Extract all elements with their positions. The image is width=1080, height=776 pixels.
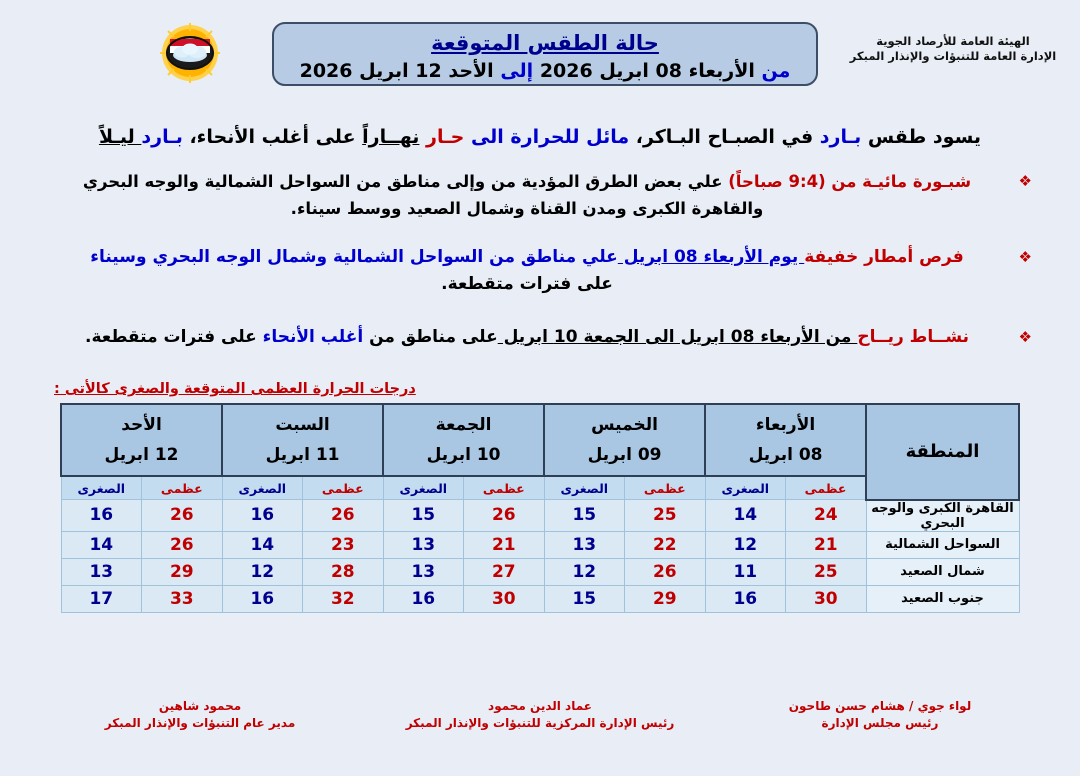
organization-name: الهيئة العامة للأرصاد الجوية الإدارة الع…	[838, 34, 1068, 64]
period-end-date: الأحد 12 ابريل 2026	[300, 60, 494, 82]
lead-seg-1: يسود طقس	[861, 126, 981, 148]
row-0-region: القاهرة الكبرى والوجه البحري	[866, 500, 1019, 532]
subheader-min-2: الصغرى	[383, 476, 464, 500]
row-0-min-1: 15	[544, 500, 625, 532]
signature-2: لواء جوي / هشام حسن طاحون رئيس مجلس الإد…	[720, 698, 1040, 732]
forecast-period: من الأربعاء 08 ابريل 2026 إلى الأحد 12 ا…	[274, 58, 816, 84]
lead-paragraph: يسود طقس بـارد في الصبـاح البـاكر، مائل …	[58, 122, 1022, 152]
row-0-min-2: 15	[383, 500, 464, 532]
row-0-min-0: 14	[705, 500, 786, 532]
row-0-max-4: 26	[142, 500, 223, 532]
lead-seg-8: بـارد	[141, 126, 182, 148]
row-1-min-0: 12	[705, 531, 786, 558]
table-body: القاهرة الكبرى والوجه البحري 24 14 25 15…	[61, 500, 1019, 613]
egyptian-meteorological-authority-logo	[155, 22, 225, 84]
header-day-2-date: 10 ابريل	[384, 440, 543, 470]
header-day-1: الخميس 09 ابريل	[544, 404, 705, 476]
bullet-fog: ❖ شبـورة مائيـة من (9:4 صباحاً) علي بعض …	[46, 168, 1034, 222]
row-0-max-0: 24	[786, 500, 867, 532]
signature-1-name: عماد الدين محمود	[380, 698, 700, 715]
row-2-region: شمال الصعيد	[866, 558, 1019, 585]
subheader-min-4: الصغرى	[61, 476, 142, 500]
subheader-max-1: عظمى	[625, 476, 706, 500]
page-title: حالة الطقس المتوقعة	[274, 29, 816, 58]
header-day-3: السبت 11 ابريل	[222, 404, 383, 476]
page-header: حالة الطقس المتوقعة من الأربعاء 08 ابريل…	[0, 0, 1080, 104]
table-row: السواحل الشمالية 21 12 22 13 21 13 23 14…	[61, 531, 1019, 558]
period-start-date: الأربعاء 08 ابريل 2026	[540, 60, 755, 82]
header-day-2: الجمعة 10 ابريل	[383, 404, 544, 476]
row-3-max-2: 30	[464, 585, 545, 612]
lead-seg-9: ليـلاً	[99, 126, 141, 148]
row-1-max-4: 26	[142, 531, 223, 558]
diamond-bullet-icon: ❖	[1019, 326, 1032, 348]
wind-area: أغلب الأنحاء	[263, 327, 364, 347]
lead-seg-6: نهــاراً	[362, 126, 419, 148]
table-row: جنوب الصعيد 30 16 29 15 30 16 32 16 33 1…	[61, 585, 1019, 612]
signature-2-name: لواء جوي / هشام حسن طاحون	[720, 698, 1040, 715]
row-1-min-3: 14	[222, 531, 303, 558]
header-day-0-date: 08 ابريل	[706, 440, 865, 470]
header-region: المنطقة	[866, 404, 1019, 500]
subheader-max-3: عظمى	[303, 476, 384, 500]
row-2-max-1: 26	[625, 558, 706, 585]
period-to-word: إلى	[500, 60, 533, 82]
row-1-max-3: 23	[303, 531, 384, 558]
signature-1-title: رئيس الإدارة المركزية للتنبؤات والإنذار …	[380, 715, 700, 732]
row-1-min-1: 13	[544, 531, 625, 558]
subheader-min-3: الصغرى	[222, 476, 303, 500]
title-box: حالة الطقس المتوقعة من الأربعاء 08 ابريل…	[272, 22, 818, 86]
header-day-4-date: 12 ابريل	[62, 440, 221, 470]
row-1-max-0: 21	[786, 531, 867, 558]
signature-2-title: رئيس مجلس الإدارة	[720, 715, 1040, 732]
subheader-min-0: الصغرى	[705, 476, 786, 500]
temperature-table-caption: درجات الحرارة العظمى المتوقعة والصغرى كا…	[54, 381, 1026, 397]
lead-seg-7: على أغلب الأنحاء،	[183, 126, 362, 148]
rain-date: يوم الأربعاء 08 ابريل	[618, 247, 804, 267]
row-2-min-4: 13	[61, 558, 142, 585]
row-2-min-1: 12	[544, 558, 625, 585]
header-day-1-name: الخميس	[545, 410, 704, 440]
header-day-1-date: 09 ابريل	[545, 440, 704, 470]
header-day-4: الأحد 12 ابريل	[61, 404, 222, 476]
row-1-region: السواحل الشمالية	[866, 531, 1019, 558]
signature-0-title: مدير عام التنبؤات والإنذار المبكر	[40, 715, 360, 732]
row-3-max-3: 32	[303, 585, 384, 612]
row-2-min-0: 11	[705, 558, 786, 585]
header-day-4-name: الأحد	[62, 410, 221, 440]
signature-1: عماد الدين محمود رئيس الإدارة المركزية ل…	[380, 698, 700, 732]
lead-seg-3: في الصبـاح البـاكر،	[629, 126, 820, 148]
row-3-min-4: 17	[61, 585, 142, 612]
row-0-max-3: 26	[303, 500, 384, 532]
rain-highlight: فرص أمطار خفيفة	[804, 247, 963, 267]
row-2-min-2: 13	[383, 558, 464, 585]
row-1-min-4: 14	[61, 531, 142, 558]
diamond-bullet-icon: ❖	[1019, 170, 1032, 192]
row-0-max-1: 25	[625, 500, 706, 532]
lead-seg-4: مائل للحرارة الى	[471, 126, 629, 148]
row-0-max-2: 26	[464, 500, 545, 532]
row-2-max-3: 28	[303, 558, 384, 585]
row-3-min-3: 16	[222, 585, 303, 612]
row-1-min-2: 13	[383, 531, 464, 558]
rain-text-line2: على فترات متقطعة.	[46, 271, 1008, 298]
subheader-max-2: عظمى	[464, 476, 545, 500]
row-3-min-1: 15	[544, 585, 625, 612]
row-0-min-4: 16	[61, 500, 142, 532]
row-3-region: جنوب الصعيد	[866, 585, 1019, 612]
bullet-list: ❖ شبـورة مائيـة من (9:4 صباحاً) علي بعض …	[46, 168, 1034, 351]
subheader-max-0: عظمى	[786, 476, 867, 500]
row-0-min-3: 16	[222, 500, 303, 532]
signature-0-name: محمود شاهين	[40, 698, 360, 715]
header-day-0-name: الأربعاء	[706, 410, 865, 440]
temperature-table: المنطقة الأربعاء 08 ابريل الخميس 09 ابري…	[60, 403, 1020, 613]
subheader-min-1: الصغرى	[544, 476, 625, 500]
row-2-min-3: 12	[222, 558, 303, 585]
header-day-2-name: الجمعة	[384, 410, 543, 440]
row-3-max-1: 29	[625, 585, 706, 612]
wind-mid-text: على مناطق من	[363, 327, 498, 347]
fog-highlight: شبـورة مائيـة من (9:4 صباحاً)	[728, 172, 971, 191]
bullet-rain: ❖ فرص أمطار خفيفة يوم الأربعاء 08 ابريل …	[46, 244, 1034, 298]
period-from-word: من	[762, 60, 791, 82]
rain-text: علي مناطق من السواحل الشمالية وشمال الوج…	[90, 247, 618, 267]
fog-text-line2: والقاهرة الكبرى ومدن القناة وشمال الصعيد…	[46, 195, 1008, 222]
wind-date-range: من الأربعاء 08 ابريل الى الجمعة 10 ابريل	[498, 327, 858, 347]
row-2-max-4: 29	[142, 558, 223, 585]
page-footer: محمود شاهين مدير عام التنبؤات والإنذار ا…	[0, 698, 1080, 732]
row-3-max-0: 30	[786, 585, 867, 612]
table-row: شمال الصعيد 25 11 26 12 27 13 28 12 29 1…	[61, 558, 1019, 585]
row-1-max-2: 21	[464, 531, 545, 558]
row-3-min-0: 16	[705, 585, 786, 612]
org-line-2: الإدارة العامة للتنبؤات والإنذار المبكر	[838, 49, 1068, 64]
table-row: القاهرة الكبرى والوجه البحري 24 14 25 15…	[61, 500, 1019, 532]
lead-seg-5: حـار	[419, 126, 471, 148]
lead-seg-2: بـارد	[820, 126, 861, 148]
org-line-1: الهيئة العامة للأرصاد الجوية	[838, 34, 1068, 49]
row-3-min-2: 16	[383, 585, 464, 612]
wind-highlight: نشــاط ريــاح	[857, 327, 969, 347]
header-day-3-name: السبت	[223, 410, 382, 440]
row-2-max-2: 27	[464, 558, 545, 585]
row-1-max-1: 22	[625, 531, 706, 558]
row-2-max-0: 25	[786, 558, 867, 585]
bullet-wind: ❖ نشــاط ريــاح من الأربعاء 08 ابريل الى…	[46, 324, 1034, 351]
diamond-bullet-icon: ❖	[1019, 246, 1032, 268]
signature-0: محمود شاهين مدير عام التنبؤات والإنذار ا…	[40, 698, 360, 732]
temperature-table-wrapper: المنطقة الأربعاء 08 ابريل الخميس 09 ابري…	[60, 403, 1020, 613]
wind-end-text: على فترات متقطعة.	[85, 327, 263, 347]
fog-text: علي بعض الطرق المؤدية من وإلى مناطق من ا…	[83, 172, 728, 191]
subheader-max-4: عظمى	[142, 476, 223, 500]
header-day-0: الأربعاء 08 ابريل	[705, 404, 866, 476]
header-day-3-date: 11 ابريل	[223, 440, 382, 470]
row-3-max-4: 33	[142, 585, 223, 612]
weather-forecast-page: حالة الطقس المتوقعة من الأربعاء 08 ابريل…	[0, 0, 1080, 776]
table-header-row-days: المنطقة الأربعاء 08 ابريل الخميس 09 ابري…	[61, 404, 1019, 476]
